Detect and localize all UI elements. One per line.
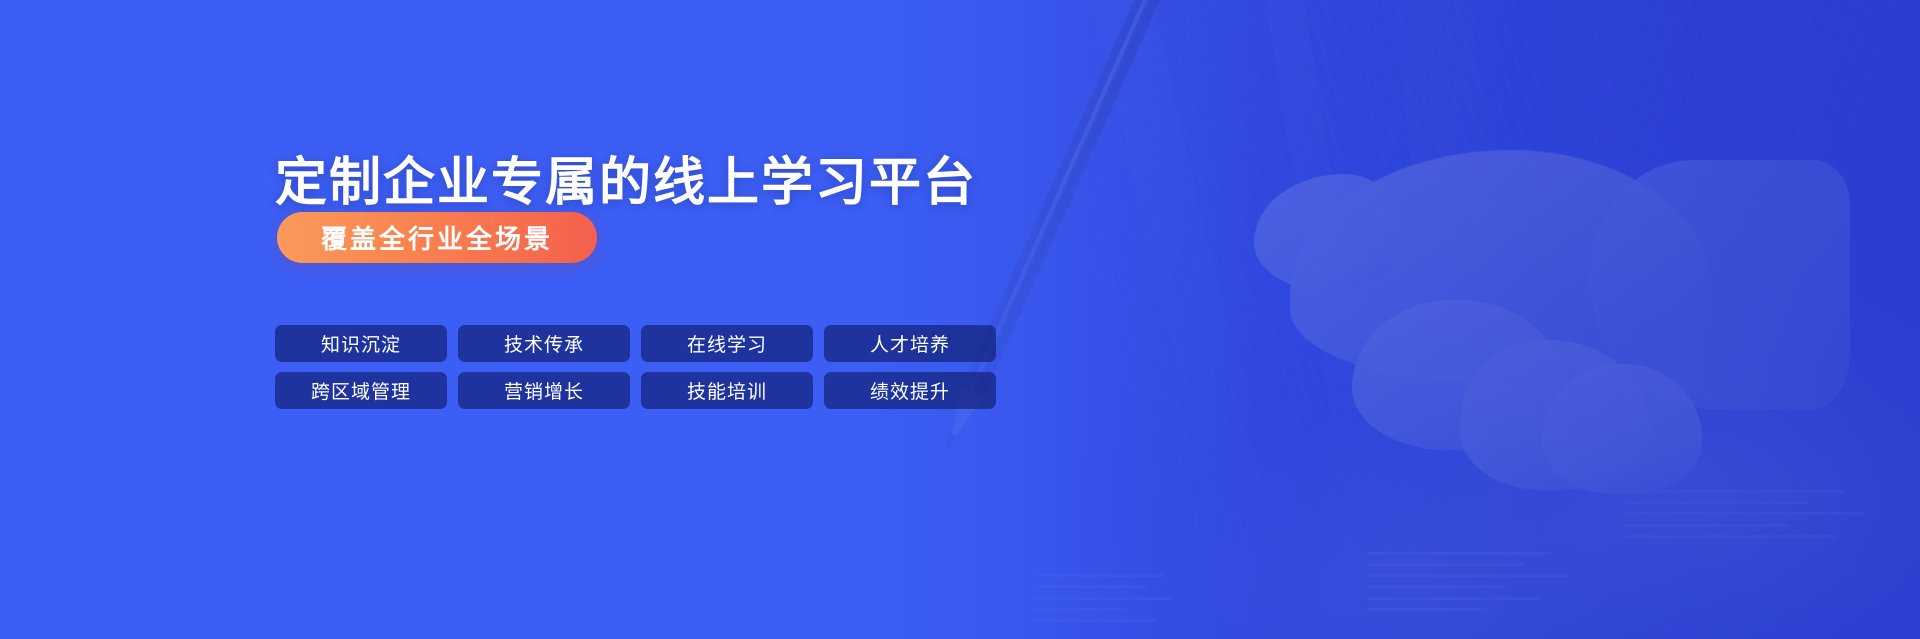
banner-headline: 定制企业专属的线上学习平台 (275, 153, 977, 214)
tag-marketing-growth[interactable]: 营销增长 (458, 372, 630, 409)
tag-online-learning[interactable]: 在线学习 (641, 325, 813, 362)
tag-list: 知识沉淀 技术传承 在线学习 人才培养 跨区域管理 营销增长 技能培训 绩效提升 (275, 325, 996, 409)
hero-banner: 定制企业专属的线上学习平台 覆盖全行业全场景 知识沉淀 技术传承 在线学习 人才… (0, 0, 1920, 639)
tag-performance-improvement[interactable]: 绩效提升 (824, 372, 996, 409)
tag-knowledge-precipitation[interactable]: 知识沉淀 (275, 325, 447, 362)
banner-content: 定制企业专属的线上学习平台 覆盖全行业全场景 知识沉淀 技术传承 在线学习 人才… (0, 0, 1920, 639)
tag-cross-region-management[interactable]: 跨区域管理 (275, 372, 447, 409)
tag-row-2: 跨区域管理 营销增长 技能培训 绩效提升 (275, 372, 996, 409)
tag-row-1: 知识沉淀 技术传承 在线学习 人才培养 (275, 325, 996, 362)
tag-talent-development[interactable]: 人才培养 (824, 325, 996, 362)
tag-skills-training[interactable]: 技能培训 (641, 372, 813, 409)
coverage-pill-button[interactable]: 覆盖全行业全场景 (277, 212, 597, 263)
tag-technical-inheritance[interactable]: 技术传承 (458, 325, 630, 362)
